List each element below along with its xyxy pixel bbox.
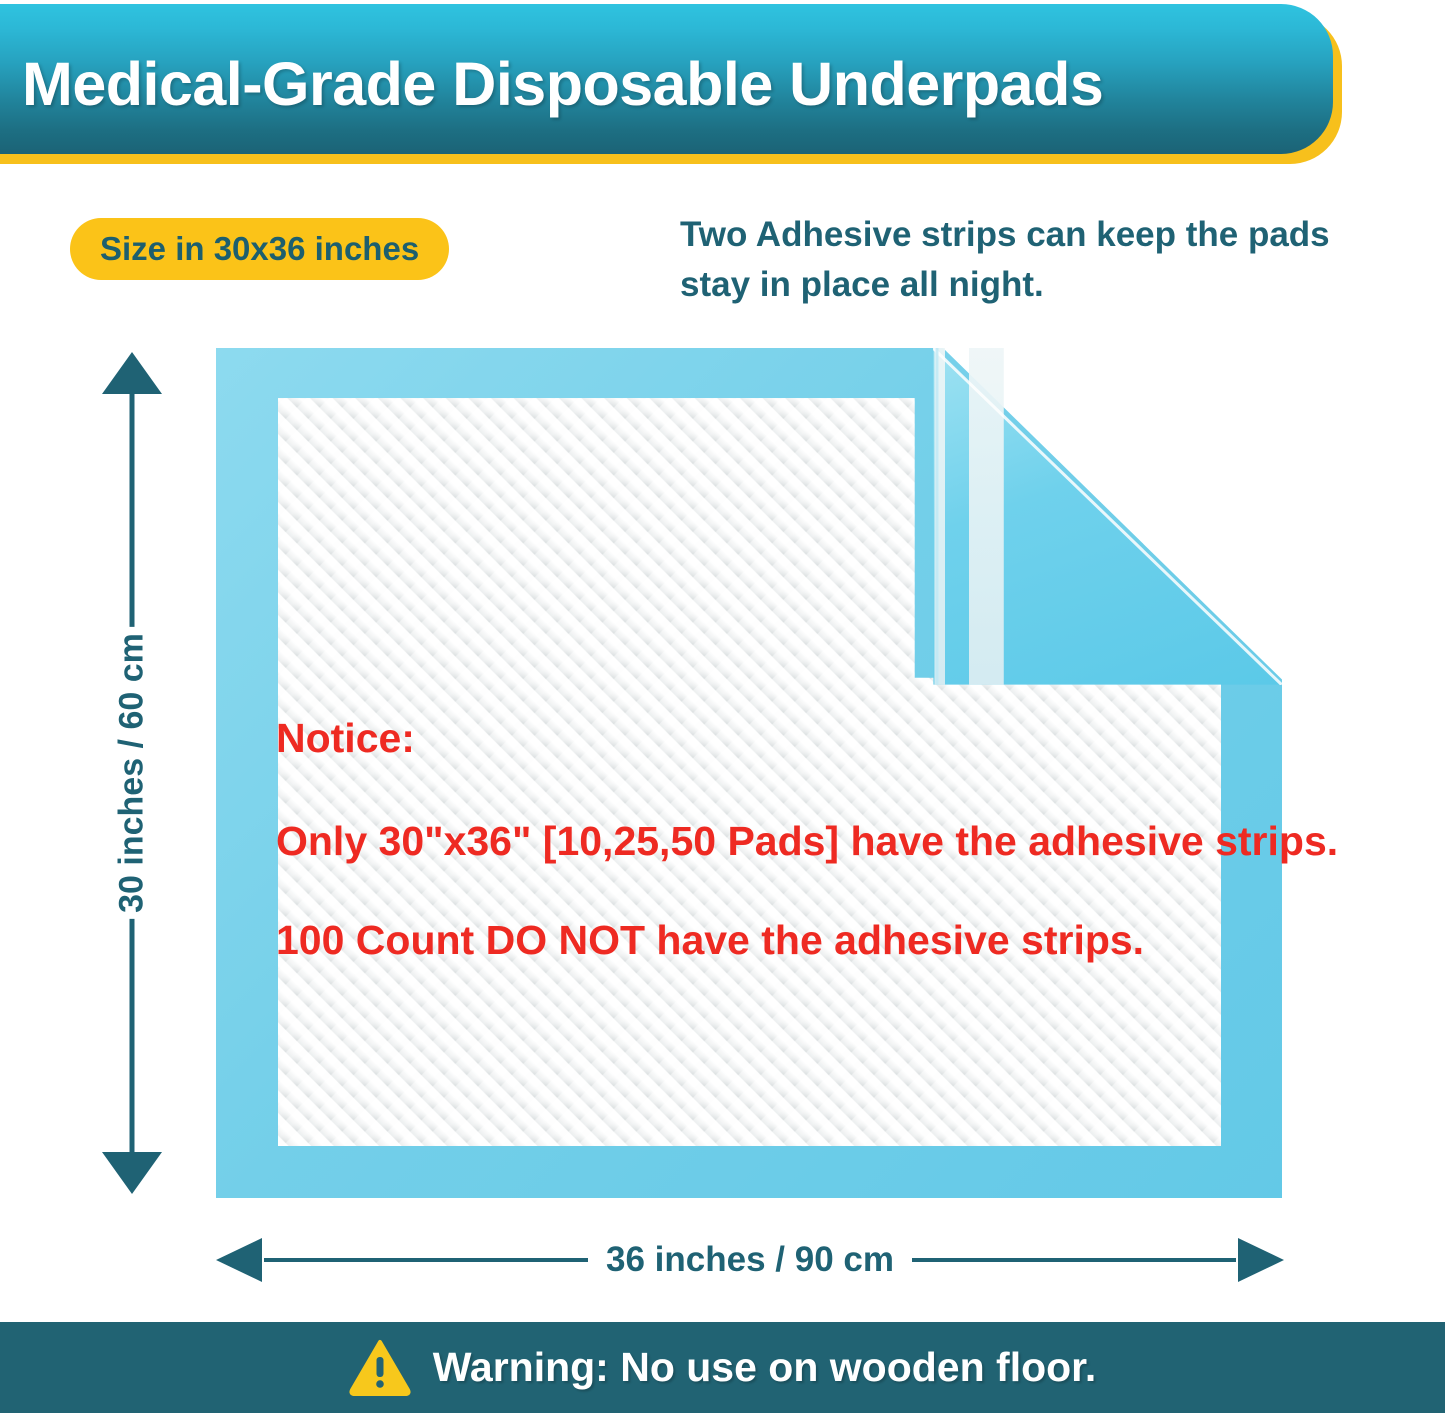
adhesive-strips-note: Two Adhesive strips can keep the pads st… <box>680 210 1370 309</box>
notice-heading: Notice: <box>276 718 1376 759</box>
horizontal-dimension: 36 inches / 90 cm <box>216 1232 1284 1288</box>
page-title: Medical-Grade Disposable Underpads <box>22 49 1103 119</box>
arrow-right-icon <box>1236 1238 1284 1282</box>
adhesive-strip-outer <box>969 348 1004 685</box>
infographic-page: Medical-Grade Disposable Underpads Size … <box>0 0 1445 1413</box>
notice-block: Notice: Only 30"x36" [10,25,50 Pads] hav… <box>276 718 1376 961</box>
warning-bar: Warning: No use on wooden floor. <box>0 1322 1445 1413</box>
warning-text: Warning: No use on wooden floor. <box>433 1344 1097 1391</box>
header-banner: Medical-Grade Disposable Underpads <box>0 4 1342 164</box>
dimension-rule-left <box>264 1258 588 1262</box>
horizontal-dimension-label: 36 inches / 90 cm <box>588 1240 912 1280</box>
notice-line-2: 100 Count DO NOT have the adhesive strip… <box>276 920 1376 961</box>
size-badge-label: Size in 30x36 inches <box>100 230 419 268</box>
warning-triangle-icon <box>349 1339 411 1397</box>
dimension-rule-right <box>912 1258 1236 1262</box>
arrow-left-icon <box>216 1238 264 1282</box>
notice-line-1: Only 30"x36" [10,25,50 Pads] have the ad… <box>276 821 1376 862</box>
size-badge: Size in 30x36 inches <box>70 218 449 280</box>
adhesive-strip-inner <box>934 348 945 685</box>
vertical-dimension-label: 30 inches / 60 cm <box>113 627 152 919</box>
vertical-dimension: 30 inches / 60 cm <box>84 352 180 1194</box>
